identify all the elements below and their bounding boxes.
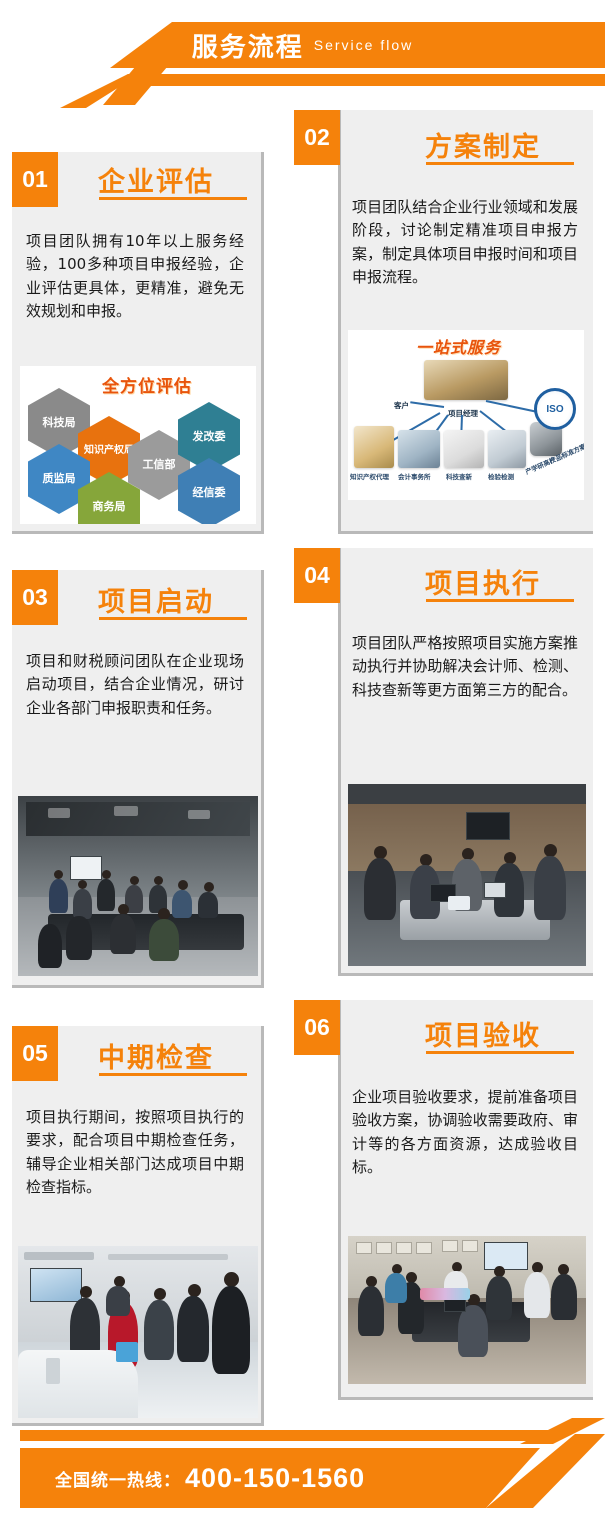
- iso-seal-icon: ISO: [534, 388, 576, 430]
- page-subtitle: Service flow: [314, 37, 413, 53]
- service-node-2: [398, 430, 440, 468]
- service-node-4: [488, 430, 526, 468]
- card-01-number-badge: 01: [12, 152, 58, 207]
- card-02-body: 项目团队结合企业行业领域和发展阶段，讨论制定精准项目申报方案，制定具体项目申报时…: [352, 196, 578, 289]
- hotline-group: 全国统一热线： 400-150-1560: [55, 1448, 365, 1508]
- one-stop-client-label: 客户: [394, 400, 409, 411]
- page-title: 服务流程: [192, 27, 304, 64]
- card-02-number: 02: [304, 124, 330, 151]
- header-stripe: [110, 74, 605, 86]
- card-01-number: 01: [22, 166, 48, 193]
- hotline-label: 全国统一热线：: [55, 1466, 181, 1491]
- card-03-body: 项目和财税顾问团队在企业现场启动项目，结合企业情况，研讨企业各部门申报职责和任务…: [26, 650, 244, 720]
- card-05-number: 05: [22, 1040, 48, 1067]
- card-05-number-badge: 05: [12, 1026, 58, 1081]
- card-04-title: 项目执行: [425, 562, 541, 601]
- card-06-number-badge: 06: [294, 1000, 340, 1055]
- service-label-1: 知识产权代理: [350, 471, 389, 481]
- card-05-body: 项目执行期间，按照项目执行的要求，配合项目中期检查任务，辅导企业相关部门达成项目…: [26, 1106, 244, 1199]
- card-05-title: 中期检查: [98, 1036, 214, 1075]
- card-01-body: 项目团队拥有10年以上服务经验，100多种项目申报经验，企业评估更具体，更精准，…: [26, 230, 244, 323]
- footer-banner: 全国统一热线： 400-150-1560: [0, 1420, 605, 1538]
- card-01-title-rule: [99, 197, 247, 200]
- header-banner: 服务流程 Service flow: [0, 0, 605, 105]
- service-flow-infographic: 服务流程 Service flow 01 企业评估 项目团队拥有10年以上服务经…: [0, 0, 605, 1538]
- card-04-number-badge: 04: [294, 548, 340, 603]
- card-04-number: 04: [304, 562, 330, 589]
- one-stop-title: 一站式服务: [416, 334, 501, 358]
- card-04-title-rule: [426, 599, 574, 602]
- hexagon-diagram-title: 全方位评估: [102, 372, 192, 397]
- footer-stripe: [20, 1430, 560, 1441]
- service-label-2: 会计事务所: [398, 471, 431, 481]
- card-06-title: 项目验收: [425, 1014, 541, 1053]
- card-03-number: 03: [22, 584, 48, 611]
- one-stop-center-node: [424, 360, 508, 400]
- header-text-group: 服务流程 Service flow: [0, 22, 605, 68]
- card-06-body: 企业项目验收要求，提前准备项目验收方案，协调验收需要政府、审计等的各方面资源，达…: [352, 1086, 578, 1179]
- card-02-title: 方案制定: [425, 125, 541, 164]
- card-06-title-rule: [426, 1051, 574, 1054]
- conference-table-photo: [348, 784, 586, 966]
- card-03-title: 项目启动: [98, 580, 214, 619]
- card-03-title-rule: [99, 617, 247, 620]
- card-03-number-badge: 03: [12, 570, 58, 625]
- hexagon-diagram: 全方位评估 科技局 知识产权局 质监局 工信部 商务局 发改委 经信委: [20, 366, 256, 524]
- arrow-center-to-client: [410, 401, 444, 408]
- service-node-3: [444, 430, 484, 468]
- site-visit-photo: [18, 1246, 258, 1418]
- service-node-1: [354, 426, 394, 468]
- hotline-number[interactable]: 400-150-1560: [185, 1463, 365, 1494]
- one-stop-center-label: 项目经理: [448, 408, 478, 419]
- acceptance-meeting-photo: [348, 1236, 586, 1384]
- card-02-title-rule: [426, 162, 574, 165]
- card-05-title-rule: [99, 1073, 247, 1076]
- card-01-title: 企业评估: [98, 160, 214, 199]
- card-06-number: 06: [304, 1014, 330, 1041]
- card-02-number-badge: 02: [294, 110, 340, 165]
- one-stop-service-diagram: 一站式服务 项目经理 客户 ISO 知识产权代理 会计事务所 科技查新 检验检测…: [348, 330, 584, 500]
- service-label-4: 检验检测: [488, 471, 514, 481]
- meeting-room-photo: [18, 796, 258, 976]
- service-label-3: 科技查新: [446, 471, 472, 481]
- card-04-body: 项目团队严格按照项目实施方案推动执行并协助解决会计师、检测、科技查新等更方面第三…: [352, 632, 578, 702]
